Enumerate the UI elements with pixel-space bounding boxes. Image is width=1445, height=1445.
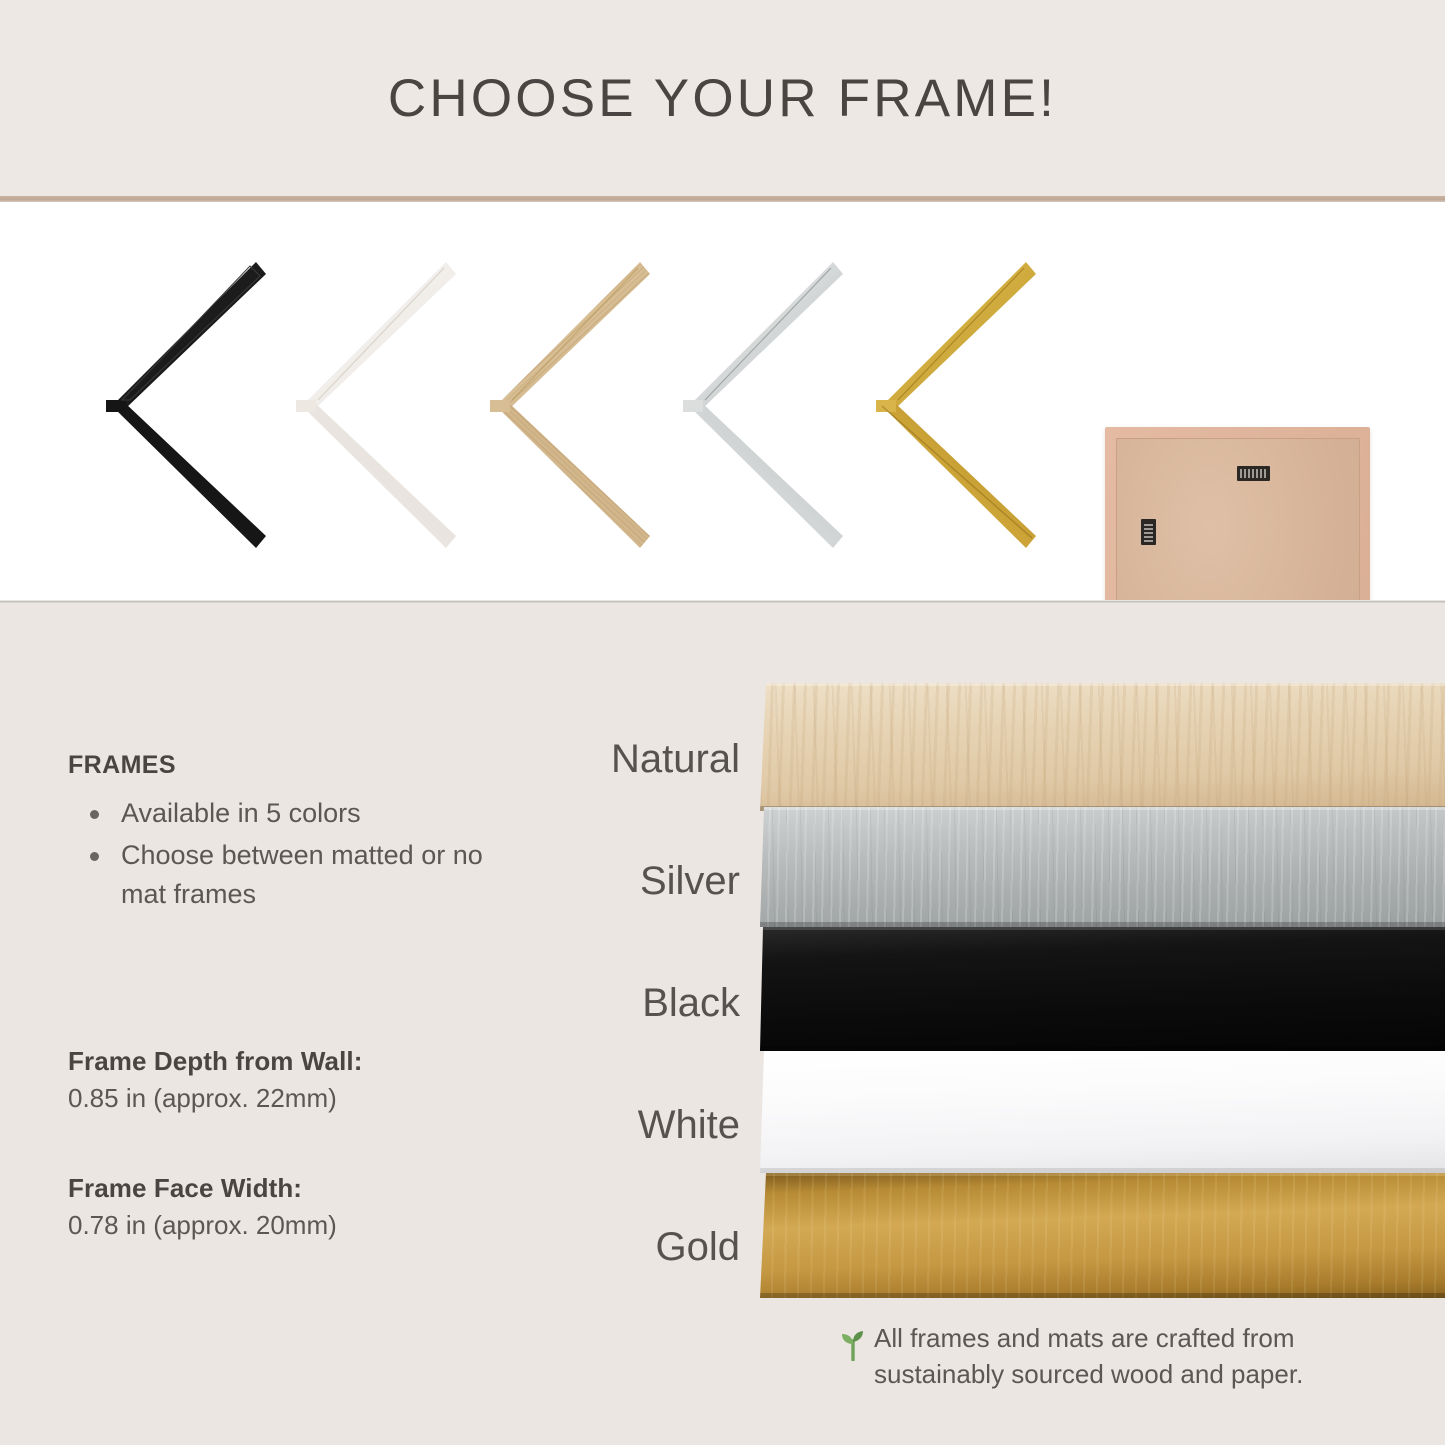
color-label-white[interactable]: White xyxy=(430,1064,742,1186)
color-label-natural[interactable]: Natural xyxy=(430,698,742,820)
header-band: CHOOSE YOUR FRAME! xyxy=(0,0,1445,196)
sustainability-note: All frames and mats are crafted from sus… xyxy=(838,1321,1398,1393)
info-section: FRAMES Available in 5 colors Choose betw… xyxy=(0,603,1445,1445)
moulding-bar-black[interactable] xyxy=(760,927,1445,1051)
color-option-labels: Natural Silver Black White Gold xyxy=(430,698,742,1308)
bar-shadow-lip xyxy=(760,922,1445,927)
moulding-bar-gold[interactable] xyxy=(760,1173,1445,1298)
bar-highlight xyxy=(760,927,1445,930)
black-frame-corner[interactable] xyxy=(78,260,268,550)
moulding-bar-white[interactable] xyxy=(760,1051,1445,1173)
color-label-gold[interactable]: Gold xyxy=(430,1186,742,1308)
page-title: CHOOSE YOUR FRAME! xyxy=(388,68,1057,129)
color-label-black[interactable]: Black xyxy=(430,942,742,1064)
silver-frame-corner[interactable] xyxy=(655,260,845,550)
moulding-bar-natural[interactable] xyxy=(760,683,1445,811)
gold-frame-corner[interactable] xyxy=(848,260,1038,550)
bar-shadow-lip xyxy=(760,1168,1445,1173)
frame-corner-samples-band xyxy=(0,202,1445,602)
bar-highlight xyxy=(760,1173,1445,1176)
bar-highlight xyxy=(760,1051,1445,1054)
natural-frame-corner[interactable] xyxy=(462,260,652,550)
color-label-silver[interactable]: Silver xyxy=(430,820,742,942)
bullet-dot-icon xyxy=(90,852,99,861)
sprout-icon xyxy=(838,1327,868,1361)
sawtooth-hanger-icon xyxy=(1237,466,1270,481)
bar-shadow-lip xyxy=(760,1293,1445,1298)
white-frame-corner[interactable] xyxy=(268,260,458,550)
bar-highlight xyxy=(760,807,1445,810)
bullet-dot-icon xyxy=(90,810,99,819)
moulding-bar-silver[interactable] xyxy=(760,807,1445,927)
bar-highlight xyxy=(760,683,1445,686)
sustainability-text: All frames and mats are crafted from sus… xyxy=(874,1321,1398,1393)
bar-shadow-lip xyxy=(760,1046,1445,1051)
moulding-bar-stack xyxy=(760,683,1445,1298)
side-clip-upper-icon xyxy=(1141,519,1156,545)
